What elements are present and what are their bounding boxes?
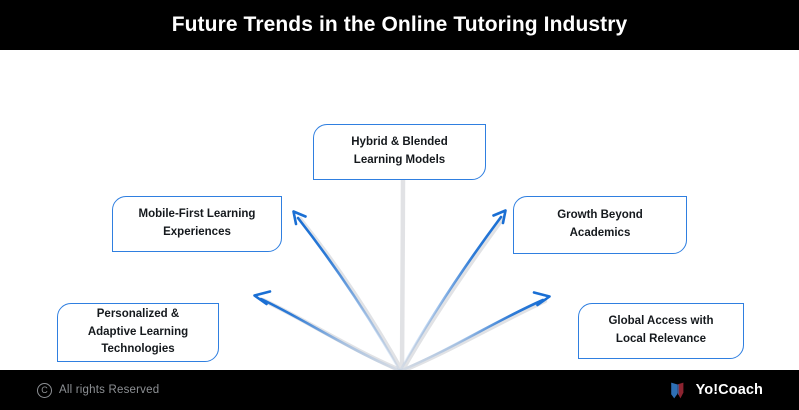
brand-name: Yo!Coach <box>696 382 763 398</box>
node-label-line: Growth Beyond <box>557 207 643 225</box>
arrow-to-growth <box>400 211 506 372</box>
slide-canvas: Future Trends in the Online Tutoring Ind… <box>0 0 799 410</box>
node-growth-beyond-academics[interactable]: Growth Beyond Academics <box>513 196 687 254</box>
page-title: Future Trends in the Online Tutoring Ind… <box>0 0 799 50</box>
node-label-line: Technologies <box>88 341 188 359</box>
arrow-to-global <box>400 293 550 372</box>
node-label-line: Adaptive Learning <box>88 324 188 342</box>
node-label-line: Local Relevance <box>608 331 713 349</box>
copyright-text: All rights Reserved <box>59 384 159 396</box>
node-label-line: Academics <box>557 225 643 243</box>
arrow-shadows <box>263 176 545 371</box>
node-label-line: Global Access with <box>608 313 713 331</box>
yocoach-logo-mark <box>669 380 690 401</box>
node-mobile-first-learning-experiences[interactable]: Mobile-First Learning Experiences <box>112 196 282 252</box>
arrow-to-personalized <box>255 292 401 372</box>
node-label-line: Experiences <box>139 224 256 242</box>
diagram-area: Hybrid & Blended Learning Models Mobile-… <box>0 50 799 370</box>
node-personalized-adaptive-learning-technologies[interactable]: Personalized & Adaptive Learning Technol… <box>57 303 219 362</box>
copyright-icon: C <box>37 383 52 398</box>
node-label-line: Learning Models <box>351 152 447 170</box>
copyright-notice: C All rights Reserved <box>37 370 159 410</box>
node-global-access-with-local-relevance[interactable]: Global Access with Local Relevance <box>578 303 744 359</box>
node-hybrid-blended-learning-models[interactable]: Hybrid & Blended Learning Models <box>313 124 486 180</box>
node-label-line: Hybrid & Blended <box>351 134 447 152</box>
footer-bar: C All rights Reserved Yo!Coach <box>0 370 799 410</box>
brand-logo[interactable]: Yo!Coach <box>669 370 763 410</box>
arrow-to-hybrid <box>394 167 407 372</box>
arrow-to-mobile <box>294 212 401 372</box>
node-label-line: Mobile-First Learning <box>139 206 256 224</box>
header-bar: Future Trends in the Online Tutoring Ind… <box>0 0 799 50</box>
node-label-line: Personalized & <box>88 306 188 324</box>
